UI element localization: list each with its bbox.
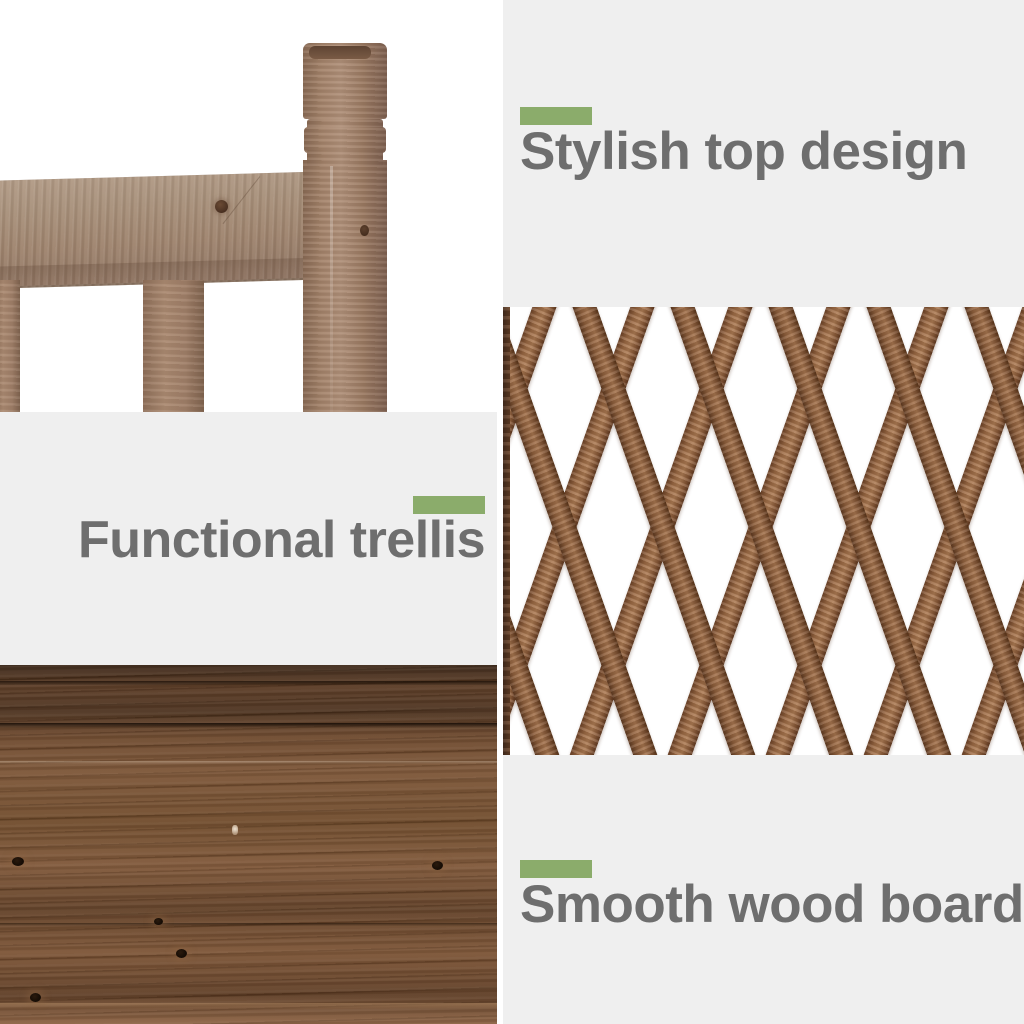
adjacent-board-sliver — [503, 307, 510, 755]
fence-post-illustration — [0, 0, 497, 412]
board-seam — [0, 1003, 497, 1009]
trellis-slat — [741, 307, 976, 755]
wood-knot — [432, 861, 443, 870]
infographic-canvas: Stylish top design Functional trellis — [0, 0, 1024, 1024]
rail-knot — [215, 200, 228, 213]
trellis-lattice-illustration — [503, 307, 1024, 755]
wood-board-texture — [0, 665, 497, 1024]
caption-panel-stylish-top-design: Stylish top design — [503, 0, 1024, 307]
fence-post-photo — [0, 0, 497, 412]
fence-post-highlight — [330, 160, 333, 412]
trellis-photo — [503, 307, 1024, 755]
caption-panel-smooth-wood-board: Smooth wood board — [503, 755, 1024, 1024]
trellis-slat — [545, 307, 780, 755]
caption-panel-functional-trellis: Functional trellis — [0, 412, 497, 665]
wood-grain-mark — [232, 825, 238, 835]
fence-slat-middle — [143, 280, 204, 412]
caption-text-functional-trellis: Functional trellis — [20, 514, 485, 567]
wood-knot — [30, 993, 41, 1002]
fence-slat-left — [0, 280, 20, 412]
wood-knot — [176, 949, 187, 958]
post-screw — [360, 225, 369, 236]
caption-block-functional-trellis: Functional trellis — [20, 496, 485, 567]
fence-post-finial-base — [307, 150, 383, 166]
wood-knot — [12, 857, 24, 866]
board-seam — [0, 723, 497, 728]
fence-post-cap-face — [309, 46, 371, 59]
trellis-slat — [643, 307, 878, 755]
wood-board-photo — [0, 665, 497, 1024]
fence-post-body — [303, 160, 387, 412]
wood-knot — [154, 918, 163, 925]
caption-text-smooth-wood-board: Smooth wood board — [520, 878, 1018, 932]
caption-block-stylish-top-design: Stylish top design — [520, 107, 1004, 179]
caption-text-stylish-top-design: Stylish top design — [520, 125, 1004, 179]
board-seam — [0, 923, 497, 926]
board-seam — [0, 761, 497, 764]
board-seam — [0, 681, 497, 685]
caption-block-smooth-wood-board: Smooth wood board — [520, 860, 1018, 932]
